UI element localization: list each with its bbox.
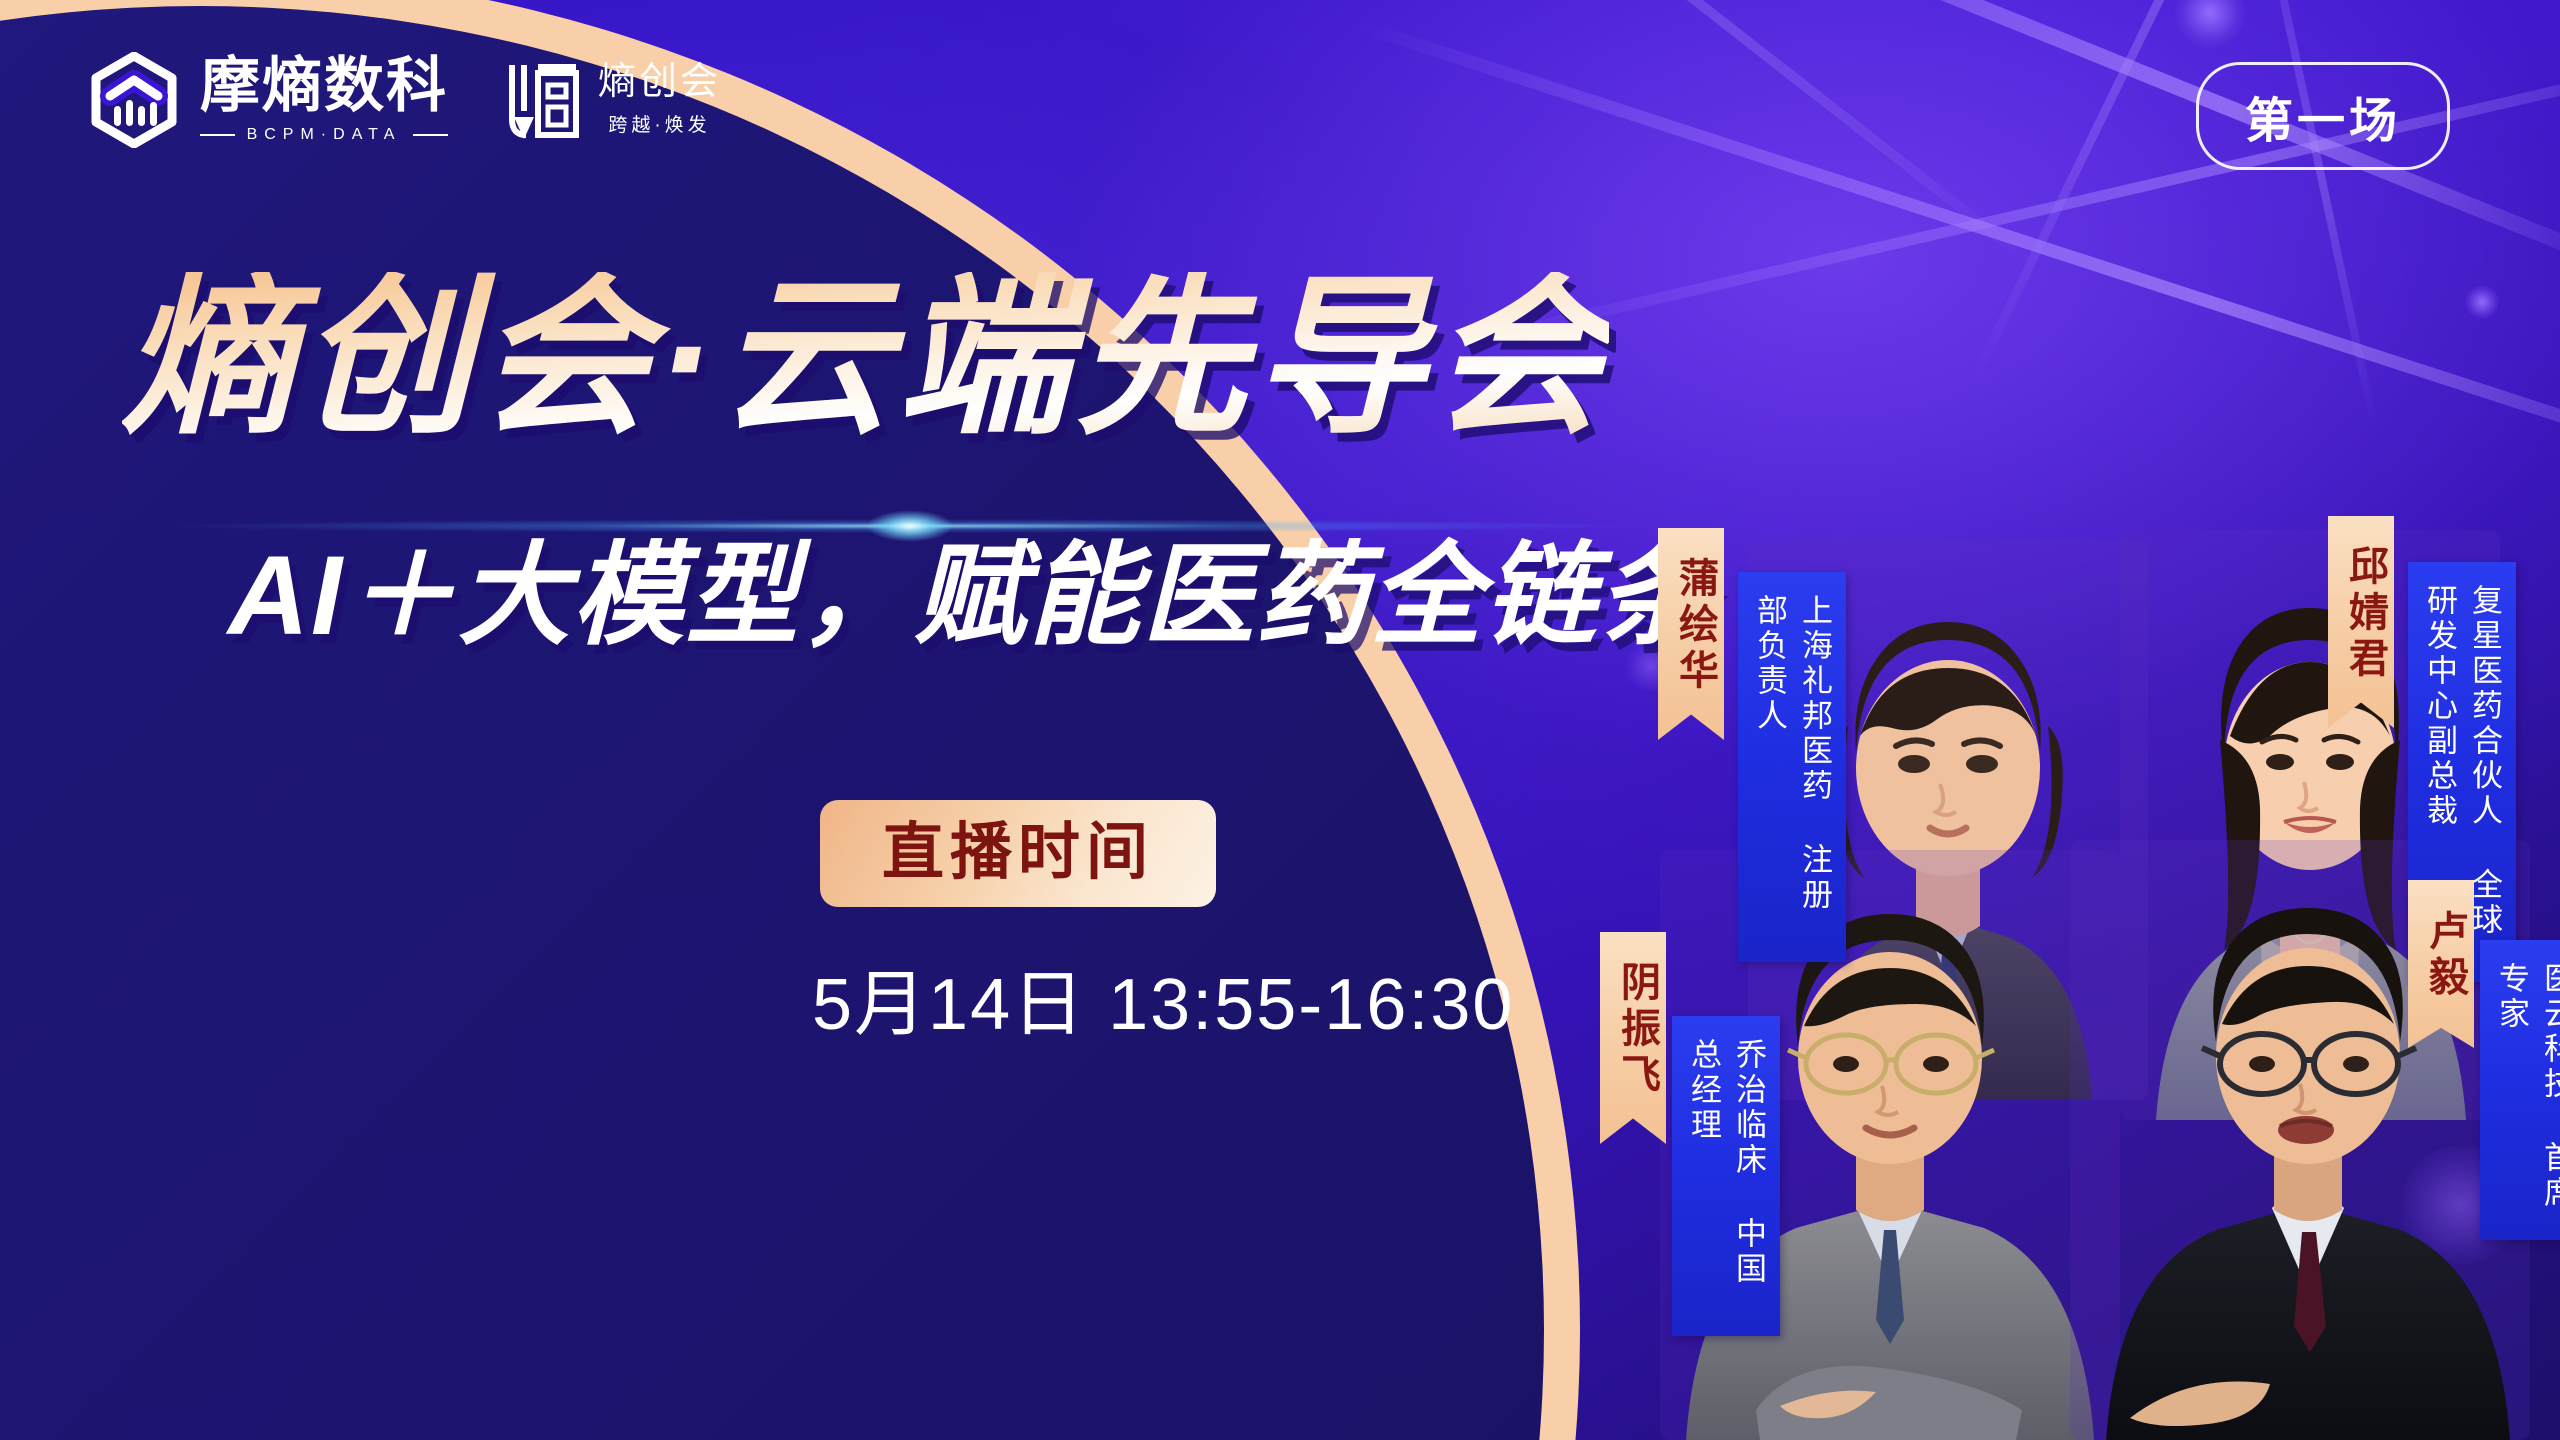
decorative-arc-peach <box>0 0 1580 1440</box>
shang-seal-icon <box>504 57 582 143</box>
hexagon-data-logo-icon <box>88 52 180 148</box>
speaker-title-tag: 医云科技 首席专家 <box>2480 940 2560 1240</box>
secondary-logo-text: 熵创会 跨越·焕发 <box>598 63 721 138</box>
speaker-name-tag: 邱婧君 <box>2328 516 2394 728</box>
secondary-logo: 熵创会 跨越·焕发 <box>504 57 721 143</box>
speaker-name-tag: 阴振飞 <box>1600 932 1666 1144</box>
live-time-button[interactable]: 直播时间 <box>820 800 1216 907</box>
secondary-logo-tagline: 跨越·焕发 <box>608 110 710 137</box>
speaker-name-tag: 蒲绘华 <box>1658 528 1724 740</box>
live-datetime: 5月14日 13:55-16:30 <box>812 945 1514 1050</box>
primary-logo-tagline: BCPM·DATA <box>247 126 402 144</box>
speaker-name-tag: 卢毅 <box>2408 880 2474 1048</box>
logo-rule-right <box>413 134 448 136</box>
primary-logo-tagline-row: BCPM·DATA <box>200 126 448 144</box>
header-logos: 摩熵数科 BCPM·DATA <box>88 52 721 148</box>
speaker-gallery: 蒲绘华 上海礼邦医药 注册部负责人 邱婧君 复星医药合伙人 全球研发中心副总裁 … <box>1600 500 2560 1440</box>
decorative-arc-fill <box>0 6 1544 1440</box>
background-dot <box>2175 0 2245 48</box>
primary-logo: 摩熵数科 BCPM·DATA <box>88 52 448 148</box>
speaker-title-tag: 乔治临床 中国总经理 <box>1672 1016 1780 1336</box>
primary-logo-text: 摩熵数科 BCPM·DATA <box>200 56 448 144</box>
decorative-arc <box>0 0 1580 1440</box>
speaker-title-tag: 上海礼邦医药 注册部负责人 <box>1738 572 1846 962</box>
session-badge: 第一场 <box>2196 62 2450 170</box>
logo-rule-left <box>200 134 235 136</box>
secondary-logo-name: 熵创会 <box>598 63 721 103</box>
page-subtitle: AI＋大模型，赋能医药全链条 <box>228 540 1712 652</box>
promo-poster: 摩熵数科 BCPM·DATA <box>0 0 2560 1440</box>
background-streak <box>1261 0 2039 271</box>
background-dot <box>2465 285 2499 319</box>
primary-logo-name: 摩熵数科 <box>200 56 448 116</box>
page-title: 熵创会·云端先导会 <box>122 272 1609 444</box>
